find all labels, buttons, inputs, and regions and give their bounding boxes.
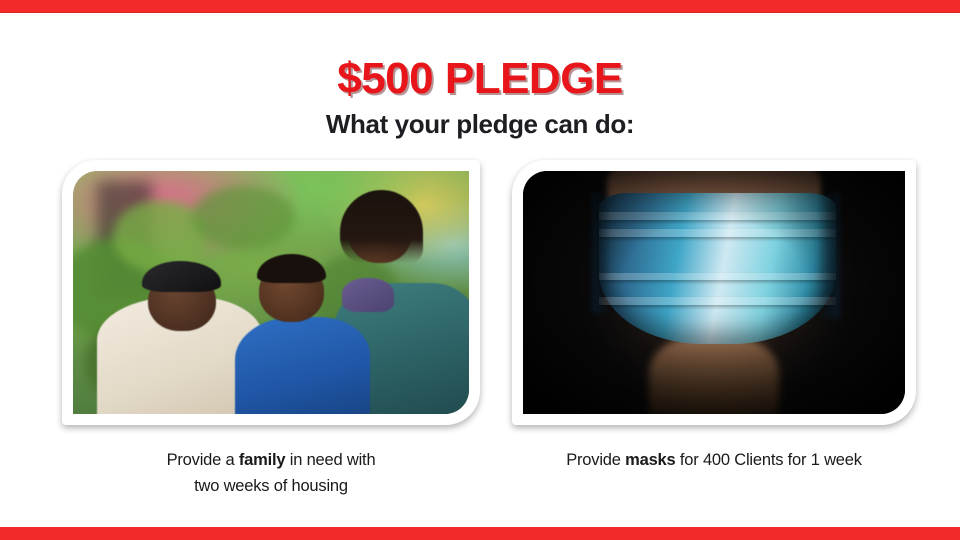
photo-vignette: [523, 171, 905, 414]
caption-masks: Provide masks for 400 Clients for 1 week: [512, 448, 916, 474]
caption-text-1: Provide a: [167, 451, 239, 469]
foliage-blob: [192, 186, 295, 249]
caption-family: Provide a family in need with two weeks …: [62, 448, 480, 499]
caption-bold-1: masks: [625, 451, 675, 469]
girl-collar: [342, 278, 393, 312]
caption-text-1: Provide: [566, 451, 625, 469]
surgical-mask-photo: [523, 171, 905, 414]
caption-bold-1: family: [239, 451, 286, 469]
bottom-accent-bar: [0, 527, 960, 540]
top-accent-bar: [0, 0, 960, 13]
caption-text-2: for 400 Clients for 1 week: [676, 451, 862, 469]
photo-card-masks: [512, 160, 916, 425]
boy-figure: [235, 317, 370, 414]
girl-hair: [340, 190, 423, 263]
photo-card-family: [62, 160, 480, 425]
slide-root: { "slide": { "title": "$500 PLEDGE", "su…: [0, 0, 960, 540]
family-photo: [73, 171, 469, 414]
page-title: $500 PLEDGE: [0, 57, 960, 101]
caption-text-2: in need with: [285, 451, 375, 469]
mother-beret: [142, 261, 221, 293]
boy-hair: [257, 254, 326, 283]
caption-line2-1: two weeks of housing: [194, 477, 348, 495]
page-subtitle: What your pledge can do:: [0, 109, 960, 140]
